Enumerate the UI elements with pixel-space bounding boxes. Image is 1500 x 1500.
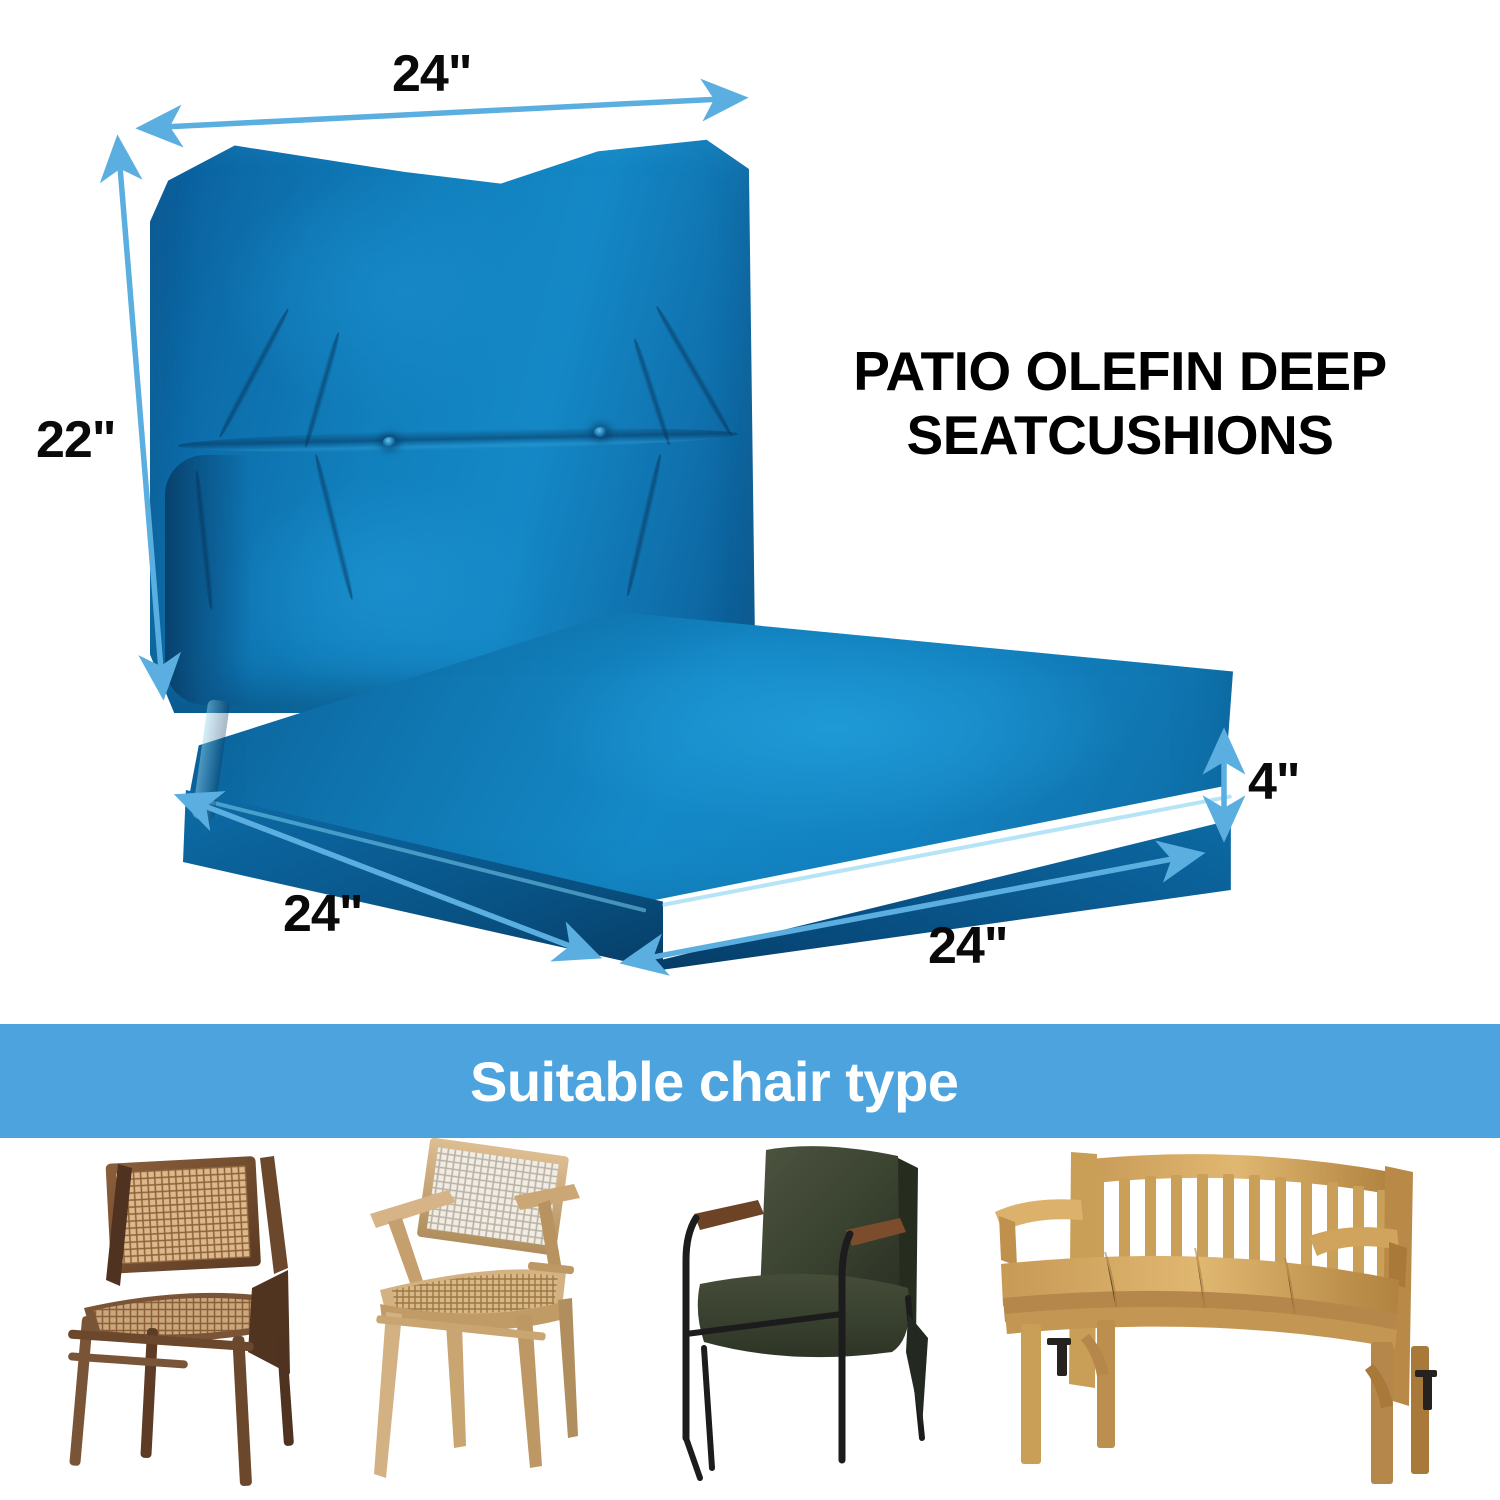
infographic-root: 24" 22" 4" 24" 24" PATIO OLEFIN DEEP SEA… <box>0 0 1500 1500</box>
product-title-line-2: SEATCUSHIONS <box>800 404 1440 468</box>
dimension-line-back-height <box>118 142 163 694</box>
gallery-item-walnut-cane-lounge-chair[interactable] <box>22 1138 340 1500</box>
dimension-line-seat-width <box>627 854 1199 962</box>
gallery-item-teak-slatted-garden-bench[interactable] <box>985 1138 1465 1500</box>
walnut-cane-lounge-chair-icon <box>22 1138 340 1500</box>
hero-section: 24" 22" 4" 24" 24" PATIO OLEFIN DEEP SEA… <box>0 0 1500 1024</box>
dimension-line-seat-depth <box>181 797 596 956</box>
olive-upholstered-armchair-icon <box>660 1138 970 1500</box>
dimension-label-seat-width: 24" <box>928 916 1008 976</box>
chair-gallery <box>0 1138 1500 1500</box>
teak-slatted-garden-bench-icon <box>985 1138 1465 1500</box>
suitable-chair-type-banner: Suitable chair type <box>0 1024 1500 1138</box>
dimension-arrows <box>0 0 1500 1024</box>
dimension-label-top-width: 24" <box>392 44 472 104</box>
product-title-line-1: PATIO OLEFIN DEEP <box>800 340 1440 404</box>
product-title: PATIO OLEFIN DEEP SEATCUSHIONS <box>800 340 1440 468</box>
oak-cane-armchair-icon <box>352 1138 652 1500</box>
dimension-label-seat-depth: 24" <box>283 884 363 944</box>
banner-title: Suitable chair type <box>470 1049 958 1114</box>
gallery-item-oak-cane-armchair[interactable] <box>352 1138 652 1500</box>
gallery-item-olive-upholstered-armchair[interactable] <box>660 1138 970 1500</box>
dimension-label-seat-thickness: 4" <box>1248 752 1300 812</box>
dimension-label-back-height: 22" <box>36 410 116 470</box>
